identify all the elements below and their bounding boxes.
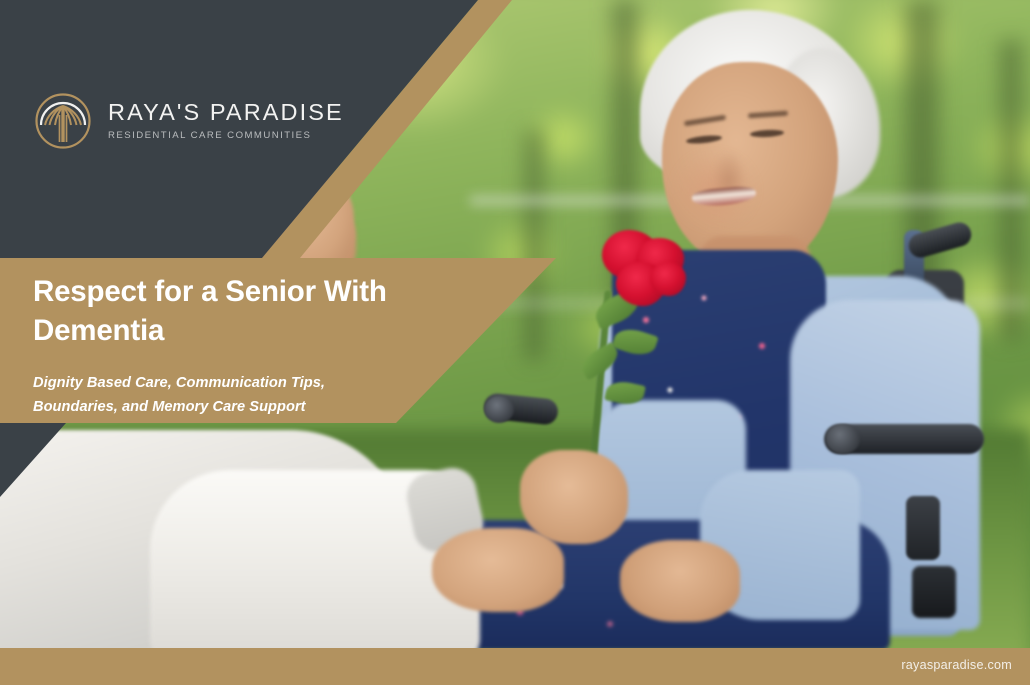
palm-tree-circle-logo-icon [34,92,92,150]
page-subtitle: Dignity Based Care, Communication Tips, … [33,372,378,418]
blog-header-banner: RAYA'S PARADISE RESIDENTIAL CARE COMMUNI… [0,0,1030,685]
website-url[interactable]: rayasparadise.com [901,658,1012,672]
brand-logo-text: RAYA'S PARADISE RESIDENTIAL CARE COMMUNI… [108,101,344,141]
brand-logo[interactable]: RAYA'S PARADISE RESIDENTIAL CARE COMMUNI… [34,92,344,150]
headline-block: Respect for a Senior With Dementia Digni… [33,272,463,419]
brand-name: RAYA'S PARADISE [108,101,344,125]
page-title: Respect for a Senior With Dementia [33,272,463,350]
footer-bar [0,648,1030,685]
brand-tagline: RESIDENTIAL CARE COMMUNITIES [108,131,344,141]
